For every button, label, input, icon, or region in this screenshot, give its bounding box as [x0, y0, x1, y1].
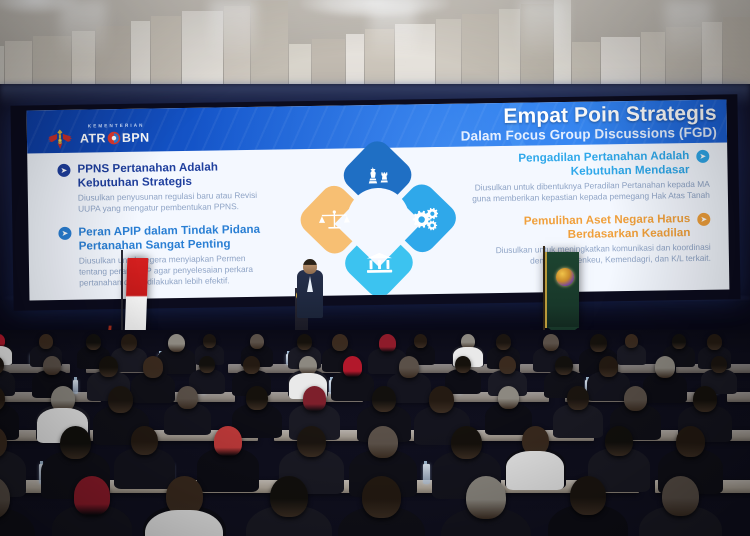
- point-2-desc: Diusulkan untuk segera menyiapkan Permen…: [59, 253, 274, 289]
- wall-panel: [151, 16, 181, 92]
- institutional-flag-emblem-icon: [556, 268, 574, 286]
- slide-title: Empat Poin Strategis: [460, 103, 717, 128]
- audience-member-head: [203, 334, 216, 348]
- water-bottle: [73, 380, 78, 394]
- audience-member-head: [676, 426, 705, 457]
- audience-member-head: [177, 386, 198, 409]
- audience-member-head: [343, 356, 362, 377]
- bullet-arrow-icon: ➤: [697, 213, 710, 226]
- audience-member-head: [199, 356, 215, 373]
- logo-brand-atr: ATR: [80, 132, 106, 145]
- audience-member-head: [214, 426, 242, 456]
- slide-point-4: ➤ Pemulihan Aset Negara Harus Berdasarka…: [472, 212, 711, 268]
- audience-member-head: [379, 334, 396, 352]
- wall-spotlight: [60, 0, 106, 60]
- venue-wall: [0, 0, 750, 92]
- audience-member-head: [498, 386, 519, 409]
- wall-panel: [641, 32, 665, 92]
- audience-member-head: [39, 334, 53, 349]
- audience-member-light-shirt: [506, 451, 563, 490]
- audience-member-head: [372, 386, 396, 412]
- audience-member-head: [60, 426, 91, 459]
- point-3-head: ➤ Pengadilan Pertanahan Adalah Kebutuhan…: [471, 149, 709, 181]
- scales-of-justice-icon: [312, 197, 357, 242]
- audience-member-head: [246, 386, 268, 410]
- audience-member-head: [693, 386, 717, 412]
- audience-member-head: [499, 356, 516, 374]
- point-3-desc: Diusulkan untuk dibentuknya Peradilan Pe…: [472, 179, 710, 205]
- audience-member-head: [131, 426, 158, 455]
- audience-member-head: [414, 334, 427, 348]
- wall-spotlight: [210, 0, 256, 60]
- audience-member-head: [555, 356, 573, 375]
- audience-member-head: [451, 426, 482, 459]
- audience-member-head: [711, 356, 727, 373]
- institutional-flag: [545, 252, 579, 328]
- wall-panel: [499, 9, 520, 92]
- audience-member-head: [121, 334, 137, 351]
- audience-member-head: [543, 334, 559, 351]
- audience-member-head: [143, 356, 163, 378]
- audience-member-head: [672, 334, 686, 349]
- chess-pieces-icon: [355, 152, 400, 197]
- bullet-arrow-icon: ➤: [696, 150, 709, 163]
- ministry-logo-text: KEMENTERIAN ATR BPN: [80, 114, 154, 153]
- audience-member-head: [605, 426, 633, 456]
- audience-member-head: [168, 334, 185, 352]
- point-2-title: Peran APIP dalam Tindak Pidana Pertanaha…: [78, 223, 273, 254]
- audience-member-head: [662, 476, 699, 516]
- audience-member-head: [368, 426, 398, 458]
- logo-brand-bpn: BPN: [122, 131, 150, 144]
- audience-member-head: [303, 386, 326, 411]
- audience-member-head: [43, 356, 61, 375]
- audience-member-head: [590, 334, 607, 352]
- audience-member-head: [625, 334, 638, 348]
- slide-point-2: ➤ Peran APIP dalam Tindak Pidana Pertana…: [58, 223, 274, 289]
- audience-member-head: [496, 334, 511, 350]
- wall-spotlight: [665, 0, 711, 60]
- flag-pole-left: [121, 250, 123, 342]
- audience-member-head: [270, 476, 308, 517]
- point-1-title: PPNS Pertanahan Adalah Kebutuhan Strateg…: [77, 160, 272, 191]
- audience-member-head: [567, 386, 589, 410]
- slide-left-column: ➤ PPNS Pertanahan Adalah Kebutuhan Strat…: [57, 160, 274, 301]
- wall-panel: [723, 17, 750, 92]
- audience-member-head: [570, 476, 606, 515]
- audience-member-head: [455, 356, 471, 373]
- ministry-logo: KEMENTERIAN ATR BPN: [47, 114, 154, 153]
- audience-member-head: [362, 476, 401, 518]
- point-4-title: Pemulihan Aset Negara Harus Berdasarkan …: [472, 212, 690, 244]
- wall-panel: [251, 1, 288, 92]
- audience-member-head: [332, 334, 348, 351]
- audience-member-head: [74, 476, 110, 515]
- logo-brand: ATR BPN: [80, 130, 153, 145]
- slide-point-1: ➤ PPNS Pertanahan Adalah Kebutuhan Strat…: [57, 160, 273, 215]
- point-1-desc: Diusulkan penyusunan regulasi baru atau …: [58, 190, 273, 215]
- audience-member-head: [297, 426, 326, 457]
- wall-panel: [131, 21, 150, 92]
- audience-member-head: [655, 356, 675, 378]
- wall-spotlight: [370, 0, 416, 60]
- wall-panel: [462, 14, 498, 92]
- indonesian-flag: [125, 258, 149, 336]
- audience-member-head: [429, 386, 454, 413]
- point-4-desc: Diusulkan untuk meningkatkan komunikasi …: [473, 242, 711, 268]
- led-screen: KEMENTERIAN ATR BPN: [10, 94, 740, 310]
- gears-icon: [400, 195, 445, 240]
- water-bottle: [423, 464, 430, 484]
- bullet-arrow-icon: ➤: [58, 227, 71, 240]
- logo-kementerian: KEMENTERIAN: [88, 123, 145, 129]
- audience-member-head: [250, 334, 264, 349]
- bullet-arrow-icon: ➤: [57, 164, 70, 177]
- wall-spotlight: [520, 0, 566, 60]
- seated-audience: [0, 330, 750, 536]
- audience-member-head: [399, 356, 419, 378]
- garuda-emblem-icon: [47, 128, 73, 150]
- wall-panel: [436, 19, 461, 92]
- atr-bpn-mark-icon: [107, 131, 121, 145]
- speaker-head: [303, 259, 317, 274]
- audience-member-head: [86, 334, 101, 350]
- audience-member-head: [99, 356, 118, 377]
- audience-member-head: [297, 334, 312, 350]
- audience-member-head: [707, 334, 722, 350]
- point-1-head: ➤ PPNS Pertanahan Adalah Kebutuhan Strat…: [57, 160, 272, 192]
- audience-member-head: [466, 476, 506, 519]
- point-3-title: Pengadilan Pertanahan Adalah Kebutuhan M…: [471, 149, 689, 181]
- slide-right-column: ➤ Pengadilan Pertanahan Adalah Kebutuhan…: [471, 149, 711, 279]
- point-4-head: ➤ Pemulihan Aset Negara Harus Berdasarka…: [472, 212, 710, 244]
- slide-title-block: Empat Poin Strategis Dalam Focus Group D…: [460, 103, 717, 144]
- point-2-head: ➤ Peran APIP dalam Tindak Pidana Pertana…: [58, 223, 273, 255]
- slide-point-3: ➤ Pengadilan Pertanahan Adalah Kebutuhan…: [471, 149, 710, 205]
- conference-hall-scene: KEMENTERIAN ATR BPN: [0, 0, 750, 536]
- courthouse-icon: [357, 240, 402, 285]
- audience-member-head: [243, 356, 260, 374]
- audience-member-head: [599, 356, 618, 377]
- audience-member-head: [624, 386, 647, 411]
- audience-member-head: [108, 386, 133, 413]
